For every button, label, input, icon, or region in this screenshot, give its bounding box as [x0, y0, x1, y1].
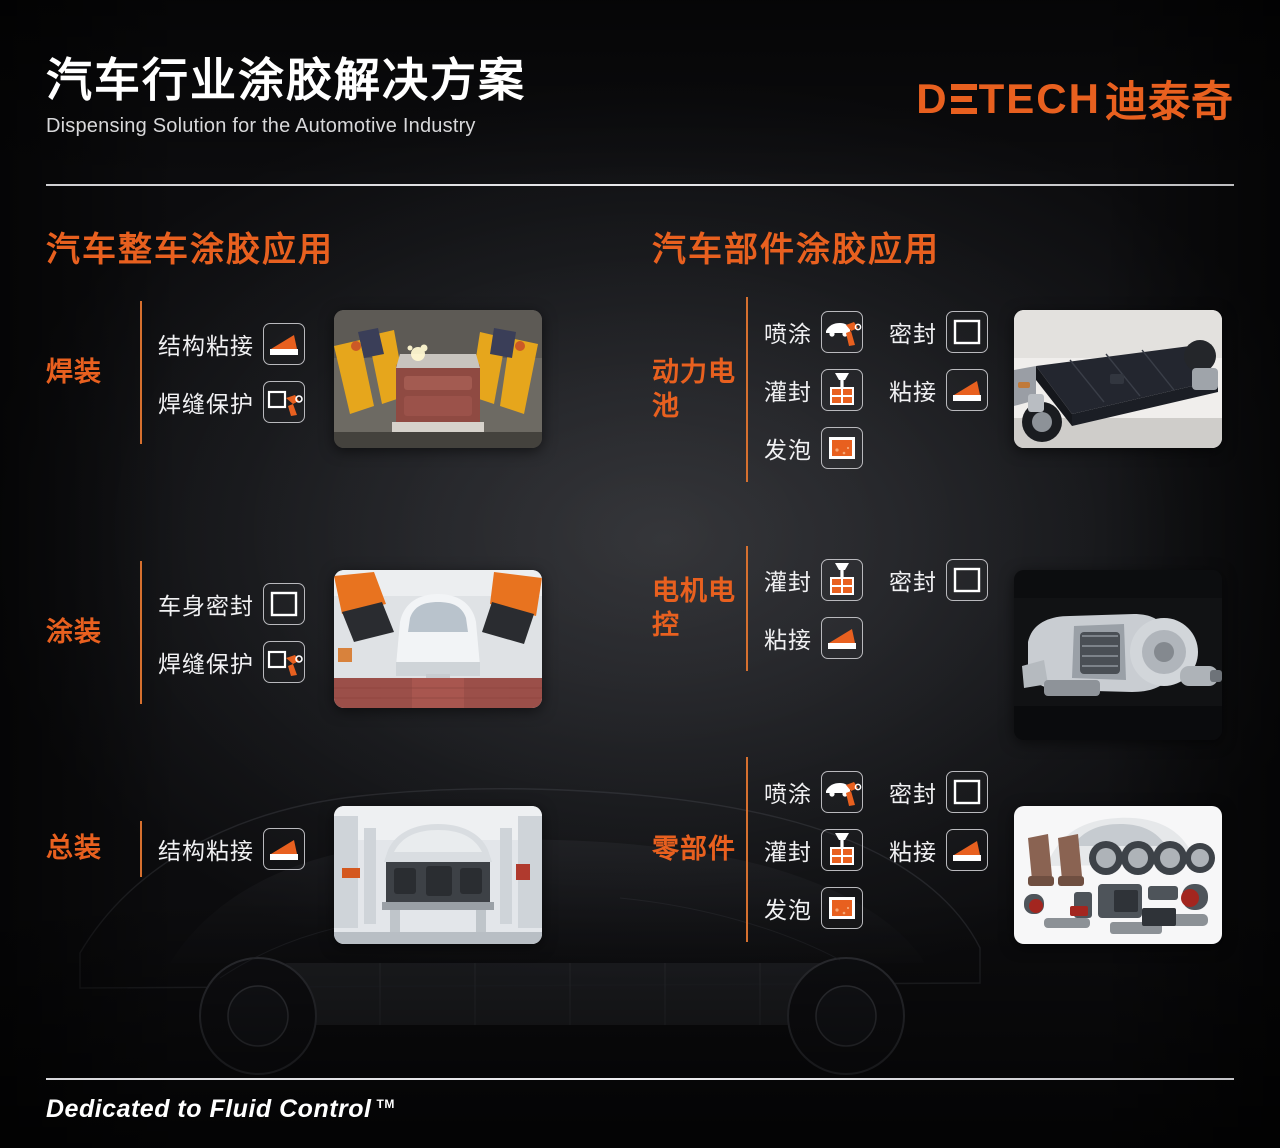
item-foaming[interactable]: 发泡: [764, 887, 863, 929]
category-label: 焊装: [46, 356, 138, 390]
item-structural-bonding[interactable]: 结构粘接: [158, 323, 305, 365]
category-divider: [746, 757, 748, 942]
item-label: 粘接: [889, 833, 937, 867]
paint-booth-photo: [334, 570, 542, 708]
trademark-symbol: TM: [377, 1097, 395, 1111]
item-label: 发泡: [764, 431, 812, 465]
logo-letter-d: D: [916, 75, 948, 123]
item-label: 结构粘接: [158, 327, 254, 361]
items-group: 喷涂 密封: [764, 311, 988, 469]
welding-robot-line-photo: [334, 310, 542, 448]
logo-e-icon: [951, 84, 977, 114]
right-section-title: 汽车部件涂胶应用: [652, 222, 1242, 271]
square-seal-icon: [946, 771, 988, 813]
header-divider: [46, 184, 1234, 186]
item-line: 发泡: [764, 427, 988, 469]
row-spacer: [652, 484, 1242, 544]
item-body-sealing[interactable]: 车身密封: [158, 583, 305, 625]
item-label: 密封: [889, 775, 937, 809]
category-divider: [746, 546, 748, 671]
footer-divider: [46, 1078, 1234, 1080]
item-label: 结构粘接: [158, 832, 254, 866]
item-potting[interactable]: 灌封: [764, 369, 863, 411]
category-divider: [140, 301, 142, 444]
item-label: 粘接: [889, 373, 937, 407]
item-seam-protection[interactable]: 焊缝保护: [158, 641, 305, 683]
square-seal-icon: [263, 583, 305, 625]
item-line: 焊缝保护: [158, 381, 305, 423]
row-spacer: [46, 710, 646, 815]
category-label: 涂装: [46, 616, 138, 650]
items-group: 灌封 密封: [764, 559, 988, 659]
row-spacer: [46, 450, 646, 555]
item-label: 灌封: [764, 373, 812, 407]
potting-grid-icon: [821, 369, 863, 411]
item-line: 灌封 密封: [764, 559, 988, 601]
logo-chinese: 迪泰奇: [1105, 68, 1234, 129]
spray-robot-car-icon: [821, 311, 863, 353]
items-group: 结构粘接 焊缝保护: [158, 323, 305, 423]
final-assembly-photo: [334, 806, 542, 944]
item-spraying[interactable]: 喷涂: [764, 771, 863, 813]
edrive-motor-photo: [1014, 570, 1222, 740]
item-label: 粘接: [764, 621, 812, 655]
items-group: 车身密封 焊缝保护: [158, 583, 305, 683]
item-label: 焊缝保护: [158, 385, 254, 419]
category-divider: [746, 297, 748, 482]
category-divider: [140, 821, 142, 877]
tagline-text: Dedicated to Fluid Control: [46, 1095, 372, 1123]
item-label: 密封: [889, 563, 937, 597]
item-line: 灌封 粘接: [764, 829, 988, 871]
detech-logo: D TECH 迪泰奇: [916, 68, 1234, 129]
category-label: 电机电控: [652, 575, 744, 643]
item-structural-bonding[interactable]: 结构粘接: [158, 828, 305, 870]
category-label: 动力电池: [652, 356, 744, 424]
item-seam-protection[interactable]: 焊缝保护: [158, 381, 305, 423]
poster-header: 汽车行业涂胶解决方案 Dispensing Solution for the A…: [46, 54, 1234, 174]
item-bonding[interactable]: 粘接: [889, 369, 988, 411]
item-label: 焊缝保护: [158, 645, 254, 679]
item-label: 喷涂: [764, 315, 812, 349]
item-spraying[interactable]: 喷涂: [764, 311, 863, 353]
bead-bonding-icon: [263, 828, 305, 870]
square-seal-icon: [946, 311, 988, 353]
robot-seam-icon: [263, 381, 305, 423]
logo-letters-tech: TECH: [979, 75, 1101, 123]
item-foaming[interactable]: 发泡: [764, 427, 863, 469]
item-line: 发泡: [764, 887, 988, 929]
item-line: 喷涂 密封: [764, 311, 988, 353]
item-line: 结构粘接: [158, 323, 305, 365]
item-potting[interactable]: 灌封: [764, 829, 863, 871]
category-divider: [140, 561, 142, 704]
item-bonding[interactable]: 粘接: [764, 617, 863, 659]
item-line: 粘接: [764, 617, 988, 659]
bead-bonding-icon: [263, 323, 305, 365]
item-line: 焊缝保护: [158, 641, 305, 683]
item-label: 灌封: [764, 833, 812, 867]
item-label: 车身密封: [158, 587, 254, 621]
bead-bonding-icon: [821, 617, 863, 659]
item-label: 喷涂: [764, 775, 812, 809]
poster-canvas: 汽车行业涂胶解决方案 Dispensing Solution for the A…: [0, 0, 1280, 1148]
item-line: 车身密封: [158, 583, 305, 625]
item-line: 结构粘接: [158, 828, 305, 870]
category-label: 总装: [46, 832, 138, 866]
square-seal-icon: [946, 559, 988, 601]
item-label: 发泡: [764, 891, 812, 925]
category-label: 零部件: [652, 833, 744, 867]
item-sealing[interactable]: 密封: [889, 771, 988, 813]
foaming-icon: [821, 427, 863, 469]
auto-parts-exploded-photo: [1014, 806, 1222, 944]
ev-battery-pack-photo: [1014, 310, 1222, 448]
potting-grid-icon: [821, 829, 863, 871]
item-sealing[interactable]: 密封: [889, 311, 988, 353]
bead-bonding-icon: [946, 369, 988, 411]
footer-tagline: Dedicated to Fluid ControlTM: [46, 1095, 395, 1124]
item-line: 喷涂 密封: [764, 771, 988, 813]
robot-seam-icon: [263, 641, 305, 683]
items-group: 喷涂 密封: [764, 771, 988, 929]
item-sealing[interactable]: 密封: [889, 559, 988, 601]
left-section-title: 汽车整车涂胶应用: [46, 222, 646, 271]
item-line: 灌封 粘接: [764, 369, 988, 411]
item-bonding[interactable]: 粘接: [889, 829, 988, 871]
spray-robot-car-icon: [821, 771, 863, 813]
potting-grid-icon: [821, 559, 863, 601]
item-potting[interactable]: 灌封: [764, 559, 863, 601]
foaming-icon: [821, 887, 863, 929]
items-group: 结构粘接: [158, 828, 305, 870]
item-label: 密封: [889, 315, 937, 349]
item-label: 灌封: [764, 563, 812, 597]
bead-bonding-icon: [946, 829, 988, 871]
